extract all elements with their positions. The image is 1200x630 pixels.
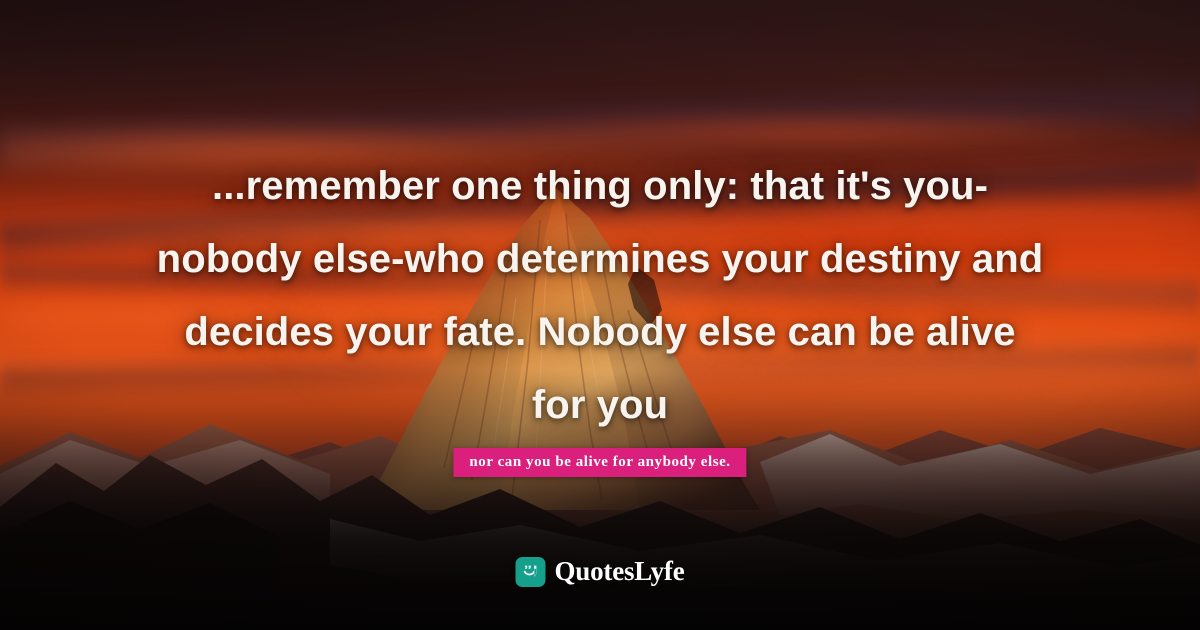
quote-text: ...remember one thing only: that it's yo… bbox=[90, 150, 1110, 442]
quote-line-3: decides your fate. Nobody else can be al… bbox=[90, 296, 1110, 369]
attribution-badge: nor can you be alive for anybody else. bbox=[453, 448, 746, 477]
quote-poster: ...remember one thing only: that it's yo… bbox=[0, 0, 1200, 630]
quote-line-2: nobody else-who determines your destiny … bbox=[90, 223, 1110, 296]
quote-line-1: ...remember one thing only: that it's yo… bbox=[90, 150, 1110, 223]
attribution-text: nor can you be alive for anybody else. bbox=[469, 454, 730, 471]
quote-smiley-icon bbox=[516, 557, 546, 587]
brand-logo[interactable]: QuotesLyfe bbox=[516, 556, 685, 587]
brand-name: QuotesLyfe bbox=[555, 556, 685, 587]
quote-line-4: for you bbox=[90, 369, 1110, 442]
